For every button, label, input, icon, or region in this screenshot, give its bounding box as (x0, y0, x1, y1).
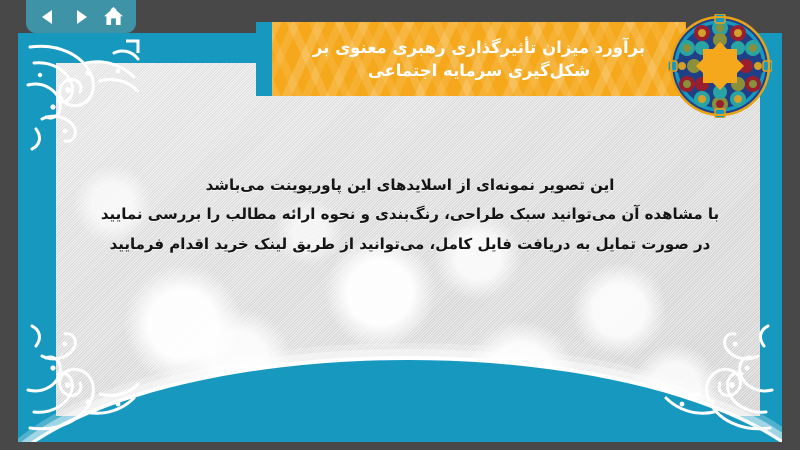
next-slide-button[interactable] (68, 5, 94, 29)
previous-slide-button[interactable] (35, 5, 61, 29)
home-button[interactable] (101, 5, 127, 29)
title-band-body: برآورد میزان تأثیرگذاری رهبری معنوی بر ش… (272, 22, 686, 96)
slide-viewer: این تصویر نمونه‌ای از اسلایدهای این پاور… (0, 0, 800, 450)
body-line-2: با مشاهده آن می‌توانید سبک طراحی، رنگ‌بن… (78, 200, 742, 229)
home-icon (103, 7, 124, 27)
slide-body-text: این تصویر نمونه‌ای از اسلایدهای این پاور… (78, 171, 742, 259)
page-title-line-2: شکل‌گیری سرمایه اجتماعی (272, 59, 686, 82)
slide-navigation-bar (26, 0, 136, 33)
body-line-3: در صورت تمایل به دریافت فایل کامل، می‌تو… (78, 230, 742, 259)
page-title-line-1: برآورد میزان تأثیرگذاری رهبری معنوی بر (272, 36, 686, 59)
slide-title-band: برآورد میزان تأثیرگذاری رهبری معنوی بر ش… (256, 22, 686, 96)
title-band-teal-cap (256, 22, 272, 96)
body-line-1: این تصویر نمونه‌ای از اسلایدهای این پاور… (78, 171, 742, 200)
triangle-right-icon (72, 8, 90, 26)
triangle-left-icon (39, 8, 57, 26)
